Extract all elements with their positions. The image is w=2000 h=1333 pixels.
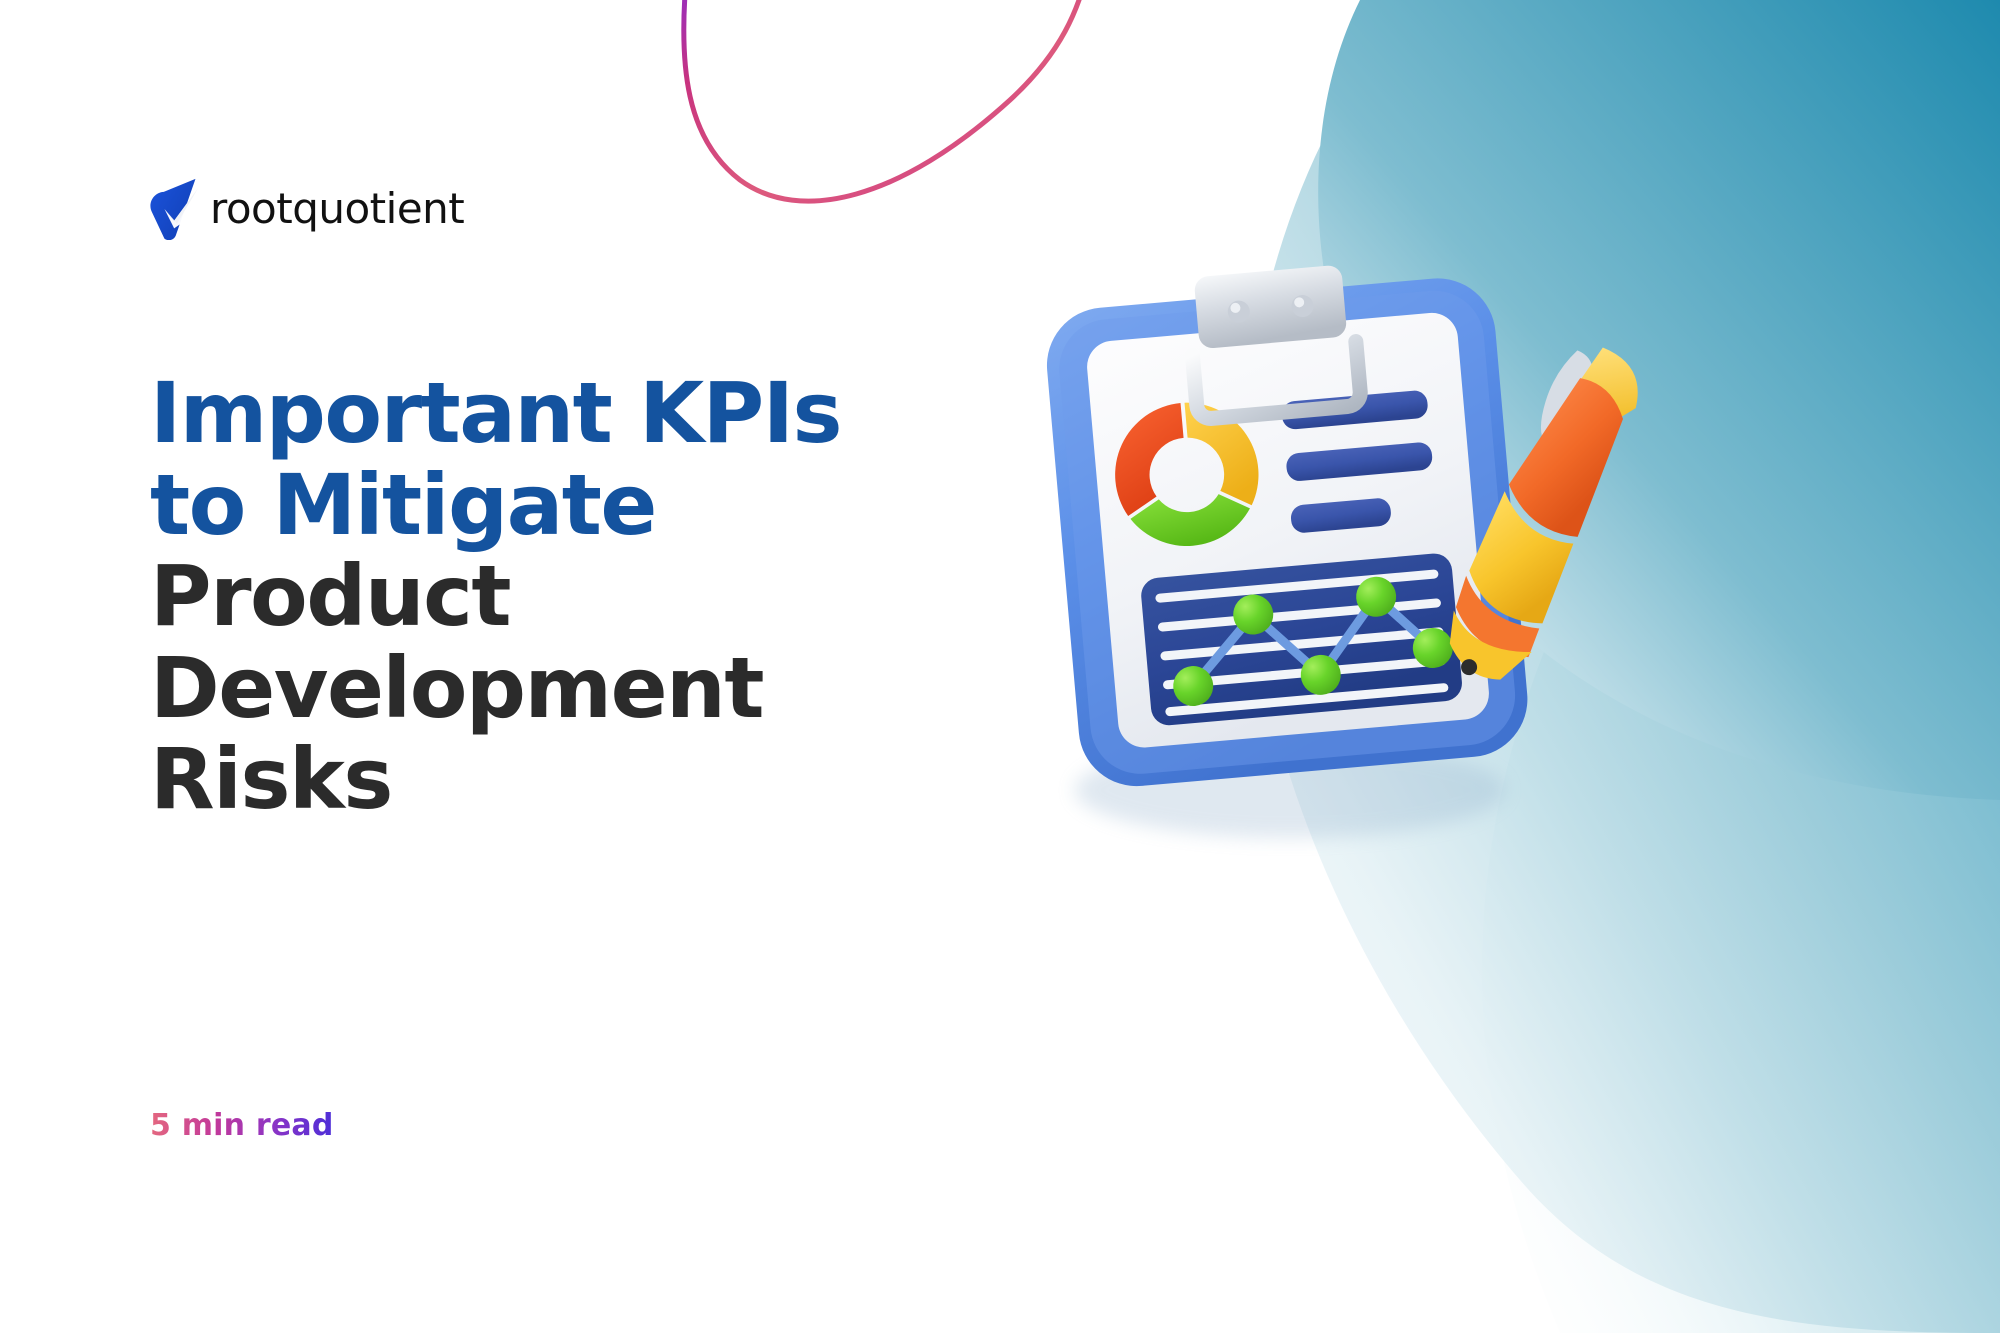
brand-logo[interactable]: rootquotient [148,178,470,240]
blog-cover-canvas: rootquotient Important KPIs to Mitigate … [0,0,2000,1333]
clipboard-report-illustration [1040,230,1700,870]
pink-purple-swoosh-line [684,0,1090,201]
read-time-label: 5 min read [150,1108,334,1143]
title-line-2: to Mitigate [150,460,890,552]
title-line-4: Development [150,643,890,735]
clipboard-body [1040,252,1532,791]
title-line-3: Product [150,551,890,643]
brand-wordmark: rootquotient [210,188,464,230]
clip-plate [1194,265,1348,350]
line-chart-panel [1140,552,1464,727]
checkmark-arrow-logo-icon [148,178,210,240]
title-line-1: Important KPIs [150,368,890,460]
page-title: Important KPIs to Mitigate Product Devel… [150,368,890,826]
title-line-5: Risks [150,734,890,826]
